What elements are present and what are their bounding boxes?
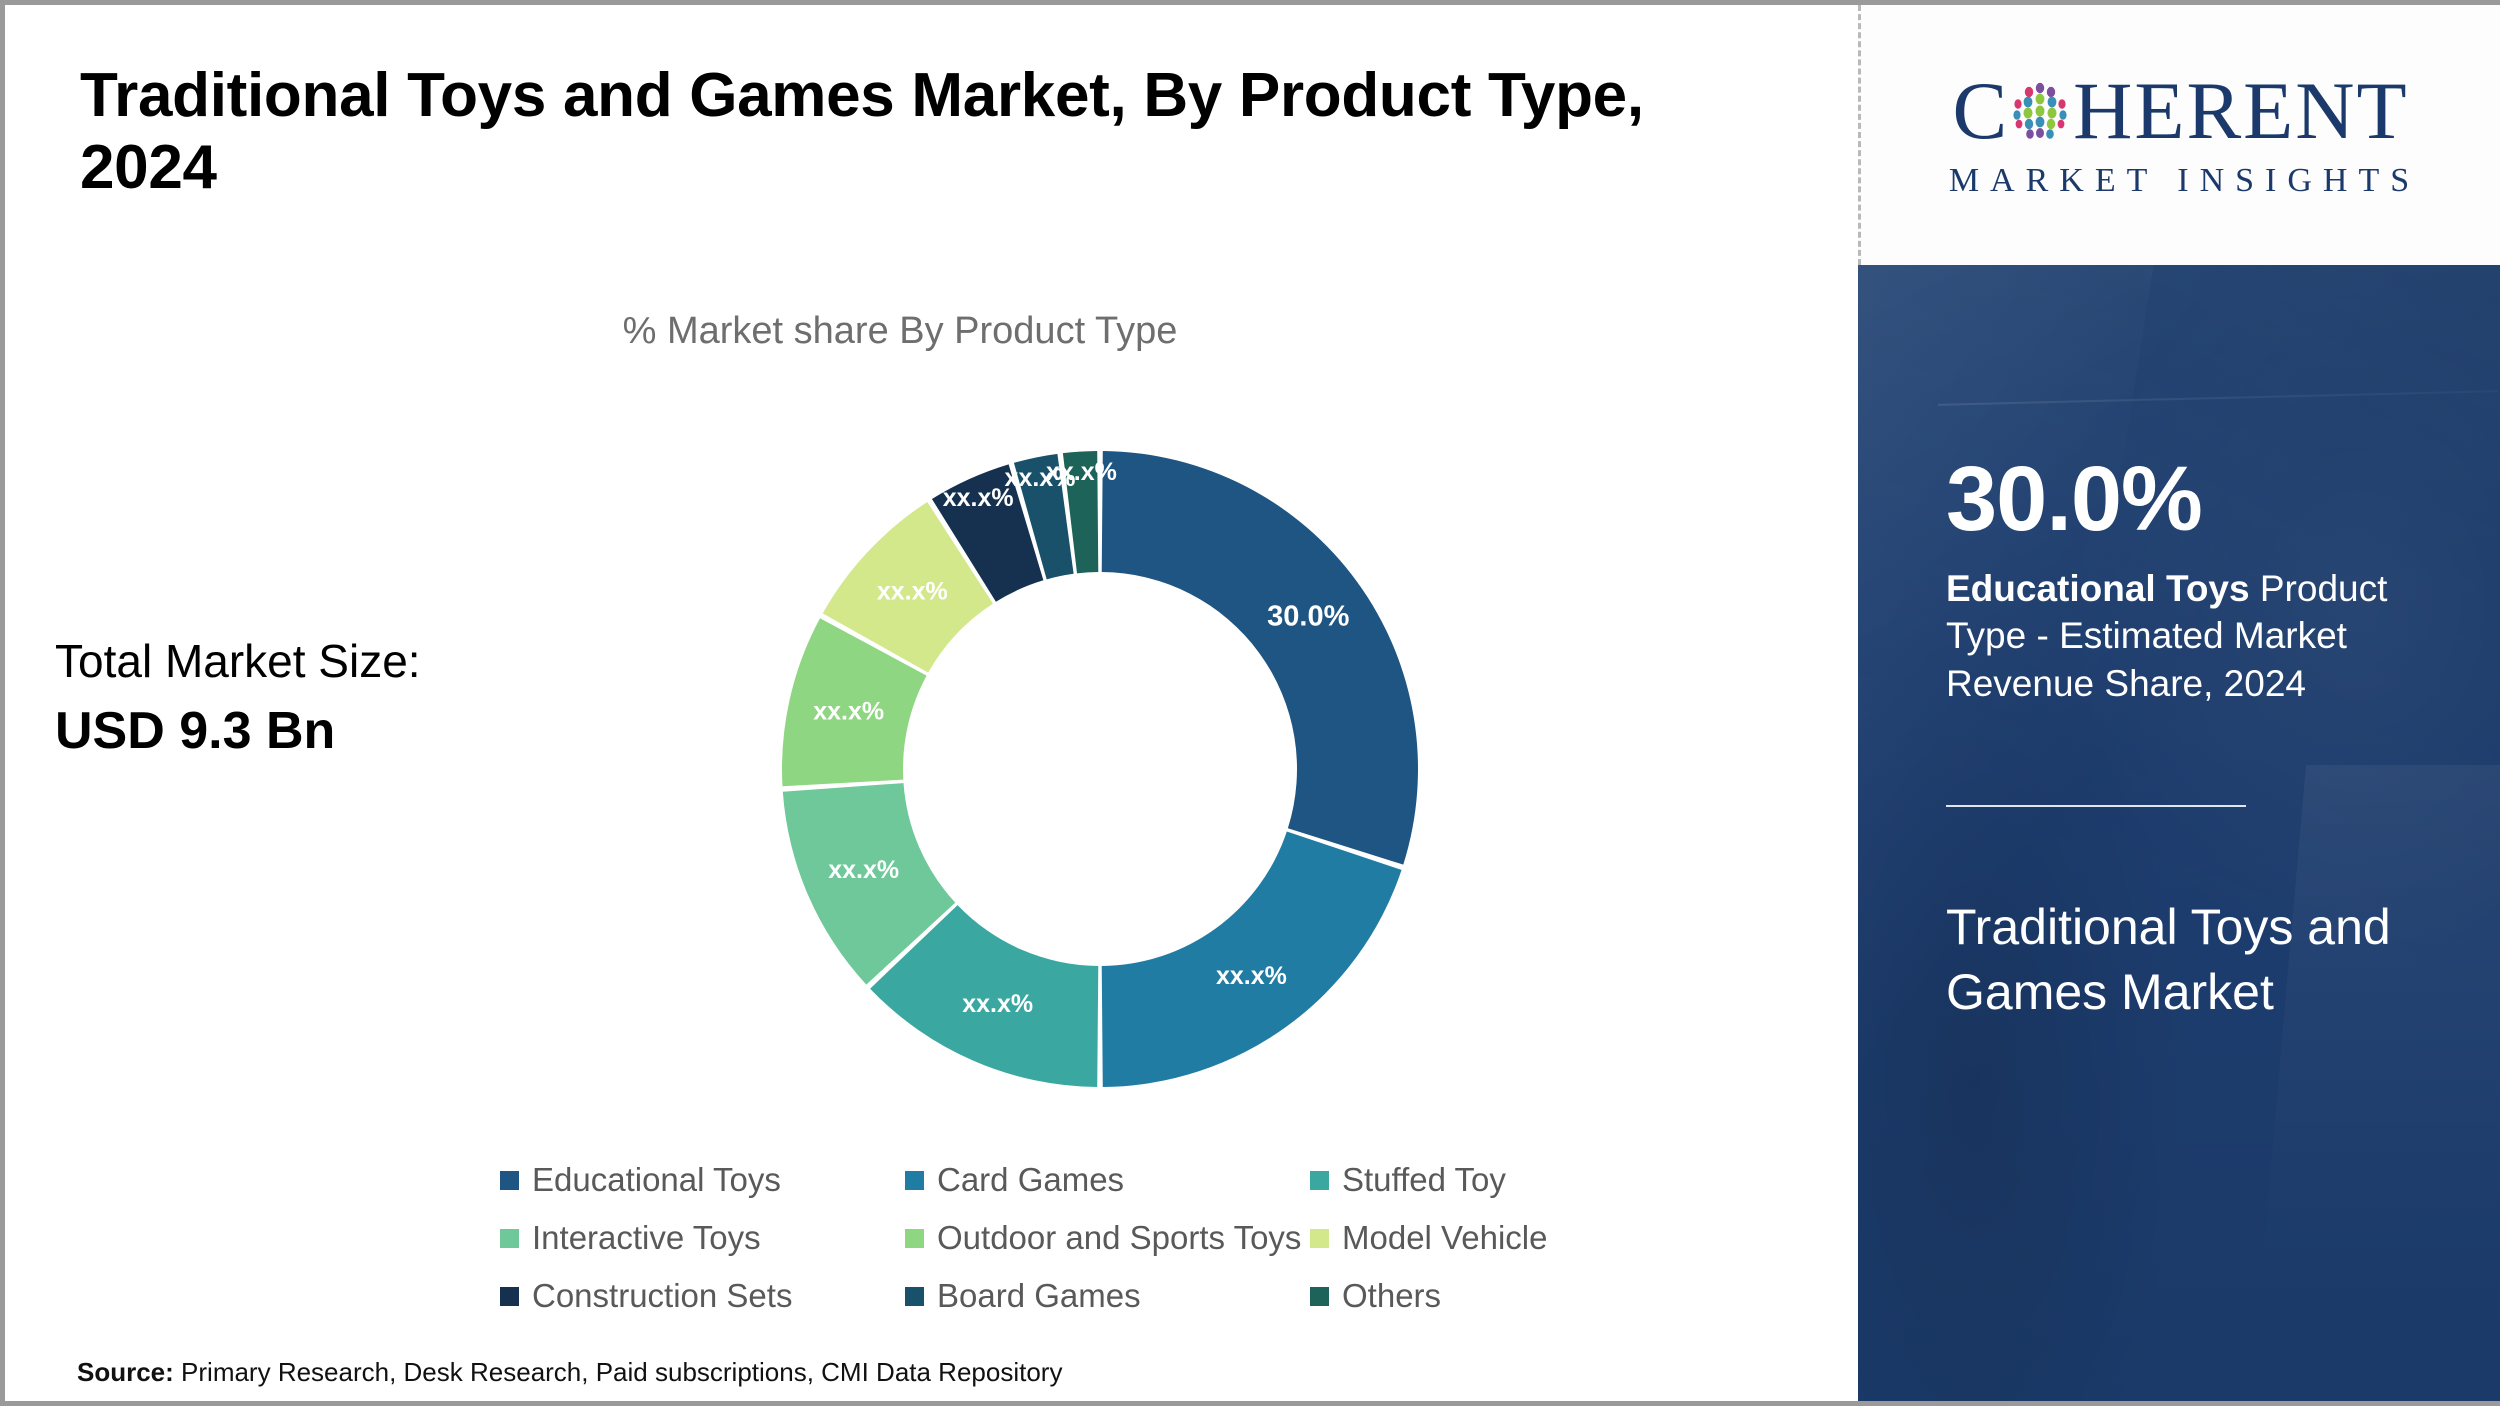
source-prefix: Source: [77, 1357, 174, 1387]
legend-item[interactable]: Board Games [905, 1271, 1310, 1321]
donut-slice-label: xx.x% [813, 697, 884, 725]
legend-swatch-icon [500, 1171, 519, 1190]
donut-chart: 30.0%xx.x%xx.x%xx.x%xx.x%xx.x%xx.x%xx.x%… [780, 449, 1420, 1089]
logo-tagline: MARKET INSIGHTS [1941, 162, 2420, 200]
total-market-size-block: Total Market Size: USD 9.3 Bn [55, 635, 615, 762]
logo-letter-c: C [1952, 70, 2009, 152]
legend-label: Others [1342, 1277, 1441, 1315]
source-text: Primary Research, Desk Research, Paid su… [174, 1357, 1063, 1387]
donut-slice [1102, 832, 1402, 1087]
main-panel: Traditional Toys and Games Market, By Pr… [5, 5, 1858, 1401]
legend-label: Educational Toys [532, 1161, 781, 1199]
source-line: Source: Primary Research, Desk Research,… [77, 1357, 1062, 1388]
legend-item[interactable]: Interactive Toys [500, 1213, 905, 1263]
donut-slice-label: xx.x% [1046, 458, 1117, 486]
legend-swatch-icon [1310, 1287, 1329, 1306]
chart-subtitle: % Market share By Product Type [5, 310, 1795, 353]
legend-swatch-icon [500, 1287, 519, 1306]
total-market-size-value: USD 9.3 Bn [55, 700, 615, 762]
texture-shape-c [2250, 765, 2500, 1401]
donut-slice-label: xx.x% [962, 990, 1033, 1018]
legend-label: Construction Sets [532, 1277, 792, 1315]
legend-swatch-icon [1310, 1229, 1329, 1248]
legend-swatch-icon [500, 1229, 519, 1248]
legend-label: Board Games [937, 1277, 1141, 1315]
globe-dots-icon [2009, 74, 2071, 148]
donut-slice [1102, 451, 1418, 865]
legend-item[interactable]: Construction Sets [500, 1271, 905, 1321]
legend-swatch-icon [905, 1229, 924, 1248]
legend-item[interactable]: Stuffed Toy [1310, 1155, 1600, 1205]
legend-item[interactable]: Card Games [905, 1155, 1310, 1205]
legend-item[interactable]: Others [1310, 1271, 1600, 1321]
sidebar-divider [1946, 805, 2246, 807]
company-logo: C [1858, 5, 2500, 265]
sidebar-market-name: Traditional Toys and Games Market [1946, 895, 2396, 1025]
donut-slice-label: xx.x% [1216, 962, 1287, 990]
highlight-category: Educational Toys [1946, 568, 2250, 609]
legend-label: Model Vehicle [1342, 1219, 1547, 1257]
chart-legend: Educational ToysCard GamesStuffed ToyInt… [500, 1155, 1600, 1321]
page-title: Traditional Toys and Games Market, By Pr… [80, 60, 1780, 204]
donut-slice-label: xx.x% [877, 577, 948, 605]
legend-label: Interactive Toys [532, 1219, 761, 1257]
legend-item[interactable]: Outdoor and Sports Toys [905, 1213, 1310, 1263]
donut-slice-label: xx.x% [943, 484, 1014, 512]
donut-chart-svg: 30.0%xx.x%xx.x%xx.x%xx.x%xx.x%xx.x%xx.x%… [780, 449, 1420, 1089]
legend-swatch-icon [905, 1171, 924, 1190]
infographic-canvas: Traditional Toys and Games Market, By Pr… [0, 0, 2500, 1406]
legend-label: Outdoor and Sports Toys [937, 1219, 1301, 1257]
sidebar: C [1858, 5, 2500, 1401]
legend-item[interactable]: Model Vehicle [1310, 1213, 1600, 1263]
donut-slice-group [782, 451, 1418, 1087]
donut-slice-label: xx.x% [828, 856, 899, 884]
highlight-percent: 30.0% [1946, 453, 2202, 545]
donut-slice-label: 30.0% [1267, 600, 1349, 632]
legend-item[interactable]: Educational Toys [500, 1155, 905, 1205]
legend-label: Card Games [937, 1161, 1124, 1199]
legend-swatch-icon [905, 1287, 924, 1306]
legend-label: Stuffed Toy [1342, 1161, 1506, 1199]
highlight-description: Educational Toys Product Type - Estimate… [1946, 565, 2401, 707]
logo-wordmark: HERENT [2073, 70, 2408, 152]
sidebar-highlight-panel: 30.0% Educational Toys Product Type - Es… [1858, 265, 2500, 1401]
total-market-size-label: Total Market Size: [55, 635, 615, 688]
legend-swatch-icon [1310, 1171, 1329, 1190]
